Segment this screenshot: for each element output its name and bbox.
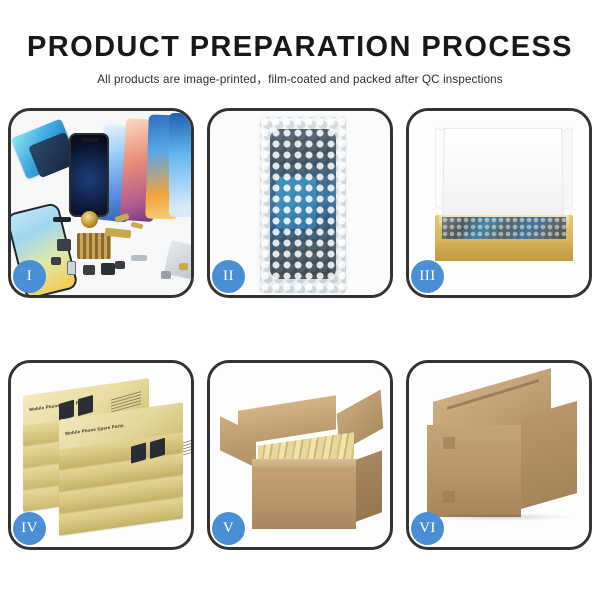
small-part-icon	[115, 261, 125, 269]
chip-grid-icon	[77, 233, 111, 259]
step-badge-2: II	[212, 260, 245, 293]
step-badge-3: III	[411, 260, 444, 293]
small-part-icon	[161, 271, 171, 279]
carton-front-panel-icon	[252, 467, 356, 529]
process-step-grid: I II III	[8, 108, 592, 550]
process-step-6: VI	[406, 360, 592, 550]
step-badge-4: IV	[13, 512, 46, 545]
small-part-icon	[67, 261, 76, 275]
step-badge-5: V	[212, 512, 245, 545]
process-step-2: II	[207, 108, 393, 298]
yellow-box-stack: Mobile Phone Spare Parts Mobile Phone Sp…	[21, 381, 189, 531]
small-part-icon	[131, 255, 147, 261]
coil-part-icon	[81, 211, 98, 228]
carton-tape-mark-icon	[443, 491, 455, 503]
sealed-carton-side-icon	[521, 401, 577, 509]
printed-text-lines-icon	[183, 433, 191, 455]
small-part-icon	[131, 222, 144, 230]
page-subtitle: All products are image-printed，film-coat…	[0, 71, 600, 87]
small-part-icon	[83, 265, 95, 275]
small-part-icon	[53, 217, 71, 222]
mailer-lid-icon	[442, 128, 564, 218]
header: PRODUCT PREPARATION PROCESS All products…	[0, 30, 600, 87]
small-part-icon	[101, 263, 115, 275]
small-part-icon	[179, 263, 188, 270]
tempered-glass-screen-icon	[69, 133, 109, 217]
process-step-3: III	[406, 108, 592, 298]
step-badge-1: I	[13, 260, 46, 293]
small-part-icon	[57, 239, 71, 251]
carton-side-panel-icon	[356, 450, 382, 521]
process-step-5: V	[207, 360, 393, 550]
process-step-4: Mobile Phone Spare Parts Mobile Phone Sp…	[8, 360, 194, 550]
carton-tape-mark-icon	[443, 437, 455, 449]
small-part-icon	[51, 257, 61, 265]
step-badge-6: VI	[411, 512, 444, 545]
carton-shadow	[425, 513, 575, 521]
process-step-1: I	[8, 108, 194, 298]
wrapped-screens-in-box-icon	[442, 217, 566, 239]
phone-display-d-icon	[169, 113, 191, 217]
product-preparation-infographic: PRODUCT PREPARATION PROCESS All products…	[0, 0, 600, 600]
mailer-front-fold-icon	[435, 243, 573, 261]
bubble-highlight-layer-icon	[260, 117, 346, 293]
page-title: PRODUCT PREPARATION PROCESS	[0, 30, 600, 64]
sealed-carton-front-icon	[427, 425, 521, 517]
